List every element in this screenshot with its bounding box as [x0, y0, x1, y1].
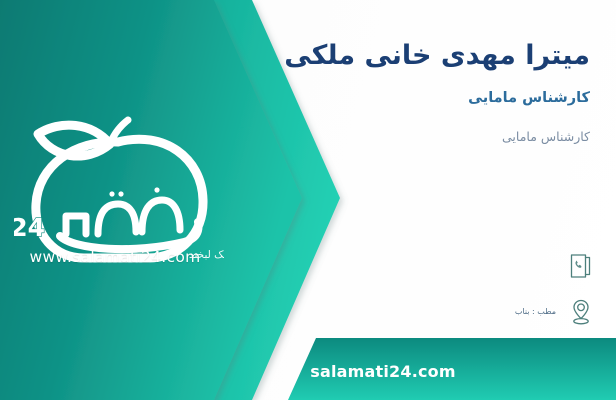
logo-website-url: www.salamati24.com: [20, 248, 210, 266]
person-info: میترا مهدی خانی ملکی کارشناس مامایی کارش…: [250, 38, 590, 144]
footer-website: salamati24.com: [0, 362, 616, 381]
contact-list: مطب : بناب: [278, 248, 598, 340]
person-role: کارشناس مامایی: [250, 90, 590, 106]
contact-row-address[interactable]: مطب : بناب: [278, 294, 598, 330]
business-card: 24 براحتی یک لبخند www.salamati24.com می…: [0, 0, 616, 400]
contact-address-label: مطب : بناب: [515, 307, 556, 317]
phone-book-icon: [564, 248, 598, 284]
map-pin-icon: [564, 294, 598, 330]
contact-row-phone[interactable]: [278, 248, 598, 284]
person-name: میترا مهدی خانی ملکی: [250, 38, 590, 74]
person-specialty: کارشناس مامایی: [250, 129, 590, 144]
